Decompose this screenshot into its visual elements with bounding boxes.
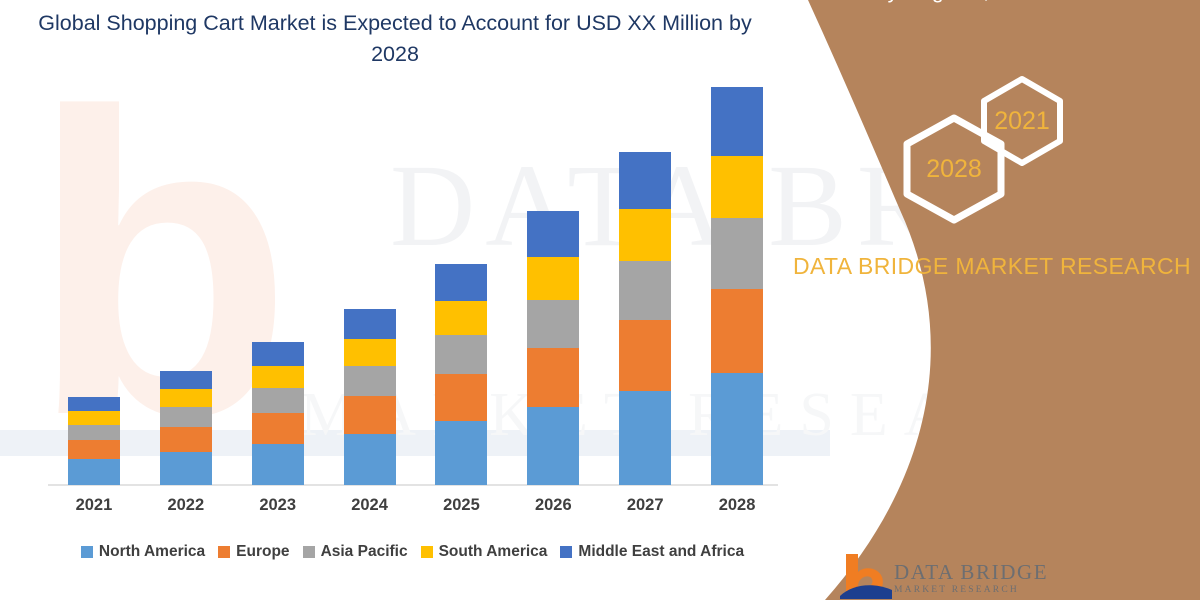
stacked-bar-2028	[711, 87, 763, 485]
bar-segment	[527, 211, 579, 257]
stacked-bar-2023	[252, 342, 304, 485]
bar-segment	[160, 452, 212, 485]
bar-segment	[68, 440, 120, 459]
bar-segment	[435, 421, 487, 485]
x-axis-label-2028: 2028	[692, 496, 782, 522]
bar-segment	[619, 261, 671, 320]
bar-segment	[619, 209, 671, 261]
logo-wordmark: DATA BRIDGE	[894, 560, 1048, 585]
legend-label: Middle East and Africa	[578, 543, 744, 561]
bar-segment	[527, 257, 579, 300]
hexagon-2028-label: 2028	[926, 155, 982, 184]
x-axis-label-2024: 2024	[325, 496, 415, 522]
legend-swatch-icon	[560, 546, 572, 558]
chart-legend: North AmericaEuropeAsia PacificSouth Ame…	[40, 540, 785, 564]
bar-column	[508, 60, 598, 485]
bar-segment	[160, 407, 212, 427]
bar-segment	[711, 156, 763, 219]
bar-segment	[252, 342, 304, 366]
stacked-bar-2025	[435, 264, 487, 485]
bar-segment	[711, 289, 763, 373]
legend-item[interactable]: Europe	[218, 543, 289, 561]
hexagon-2021: 2021	[978, 75, 1066, 167]
legend-swatch-icon	[218, 546, 230, 558]
bar-segment	[68, 411, 120, 425]
legend-label: South America	[439, 543, 548, 561]
bar-segment	[68, 459, 120, 485]
legend-item[interactable]: South America	[421, 543, 548, 561]
legend-label: North America	[99, 543, 205, 561]
legend-swatch-icon	[421, 546, 433, 558]
bar-segment	[711, 373, 763, 485]
data-bridge-mark-icon	[838, 552, 894, 600]
bar-segment	[527, 300, 579, 348]
bar-segment	[252, 366, 304, 388]
bar-segment	[344, 309, 396, 339]
stacked-bar-2021	[68, 397, 120, 486]
bar-segment	[344, 434, 396, 485]
bar-segment	[435, 374, 487, 421]
stacked-bar-plot-area	[48, 60, 783, 485]
x-axis-label-2027: 2027	[600, 496, 690, 522]
x-axis-label-2021: 2021	[49, 496, 139, 522]
bar-segment	[160, 427, 212, 452]
bar-column	[416, 60, 506, 485]
bar-segment	[160, 389, 212, 407]
x-axis-tick-labels: 20212022202320242025202620272028	[48, 496, 783, 522]
stacked-bar-2026	[527, 211, 579, 485]
bar-segment	[435, 264, 487, 301]
bar-segment	[619, 152, 671, 209]
legend-swatch-icon	[303, 546, 315, 558]
bar-column	[692, 60, 782, 485]
bar-segment	[619, 320, 671, 391]
bar-segment	[527, 348, 579, 407]
bar-segment	[68, 425, 120, 440]
x-axis-label-2022: 2022	[141, 496, 231, 522]
bar-segment	[252, 444, 304, 485]
stacked-bar-2022	[160, 371, 212, 485]
bar-segment	[68, 397, 120, 411]
hexagon-group: 2028 2021	[780, 85, 1200, 225]
legend-item[interactable]: Middle East and Africa	[560, 543, 744, 561]
hexagon-2021-label: 2021	[994, 107, 1050, 136]
legend-label: Europe	[236, 543, 289, 561]
legend-label: Asia Pacific	[321, 543, 408, 561]
bar-column	[49, 60, 139, 485]
bar-segment	[619, 391, 671, 485]
brand-name: DATA BRIDGE MARKET RESEARCH	[792, 250, 1192, 282]
bar-segment	[344, 366, 396, 397]
bar-segment	[435, 335, 487, 374]
stacked-bar-2024	[344, 309, 396, 485]
x-axis-label-2023: 2023	[233, 496, 323, 522]
bar-segment	[711, 218, 763, 289]
x-axis-label-2026: 2026	[508, 496, 598, 522]
bar-segment	[252, 388, 304, 413]
bar-segment	[435, 301, 487, 335]
panel-title: By Regions, 2021 to 2028	[802, 0, 1192, 7]
bar-segment	[160, 371, 212, 390]
bar-column	[233, 60, 323, 485]
bar-segment	[711, 87, 763, 155]
x-axis-label-2025: 2025	[416, 496, 506, 522]
bar-column	[141, 60, 231, 485]
logo-subtitle: MARKET RESEARCH	[894, 585, 1019, 595]
bar-segment	[344, 339, 396, 366]
data-bridge-logo: DATA BRIDGE MARKET RESEARCH	[838, 552, 1088, 602]
bar-column	[600, 60, 690, 485]
bar-segment	[344, 396, 396, 434]
bar-column	[325, 60, 415, 485]
legend-item[interactable]: North America	[81, 543, 205, 561]
bar-segment	[252, 413, 304, 444]
infographic-canvas: b DATA BRIDGE MARKET RESEARCH Global Sho…	[0, 0, 1200, 600]
legend-swatch-icon	[81, 546, 93, 558]
legend-item[interactable]: Asia Pacific	[303, 543, 408, 561]
bar-segment	[527, 407, 579, 485]
stacked-bar-2027	[619, 152, 671, 485]
